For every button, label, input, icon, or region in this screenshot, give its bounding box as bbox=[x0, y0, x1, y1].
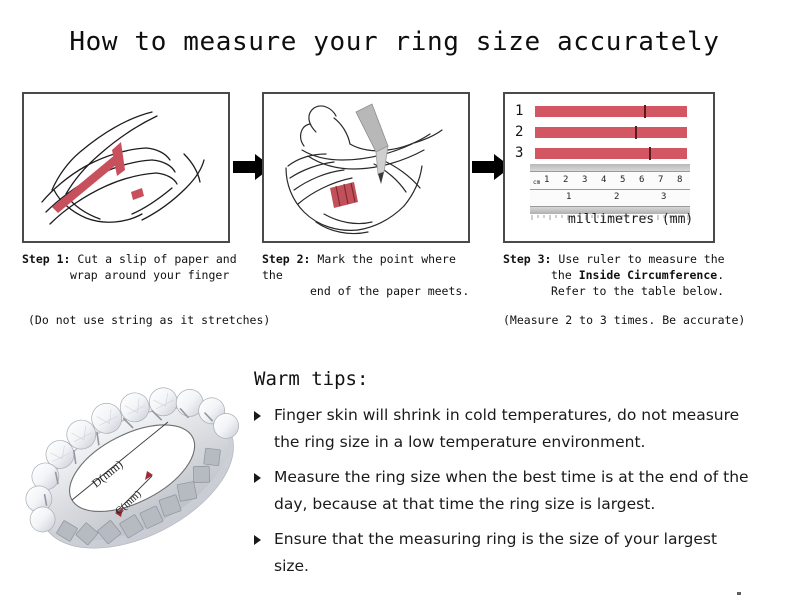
measured-strip-row: 2 bbox=[515, 124, 697, 140]
triangle-bullet-icon bbox=[254, 411, 261, 421]
strip-number: 2 bbox=[515, 124, 535, 140]
step-2-label: Step 2: bbox=[262, 252, 310, 266]
ring-diagram: D(mm) C(mm) bbox=[18, 352, 248, 577]
step-1-line1: Cut a slip of paper and bbox=[77, 252, 236, 266]
step-3-line2-suffix: . bbox=[717, 268, 724, 282]
strip-number: 3 bbox=[515, 145, 535, 161]
ruler-top-edge bbox=[530, 164, 690, 171]
step-2-caption: Step 2: Mark the point where the end of … bbox=[262, 251, 477, 299]
warm-tips-heading: Warm tips: bbox=[254, 368, 368, 390]
strip-mark bbox=[635, 126, 637, 139]
list-item: Finger skin will shrink in cold temperat… bbox=[254, 402, 754, 456]
ring-size-guide-page: How to measure your ring size accurately bbox=[0, 0, 789, 606]
paper-strip bbox=[535, 106, 687, 117]
step-3-caption: Step 3: Use ruler to measure the the Ins… bbox=[503, 251, 753, 299]
step-3-label: Step 3: bbox=[503, 252, 551, 266]
pencil-shape bbox=[356, 104, 388, 184]
step-3-illustration-panel: 1 2 3 bbox=[503, 92, 715, 243]
ruler-inch-tick: 2 bbox=[614, 192, 619, 202]
step-3-line3: Refer to the table below. bbox=[503, 283, 753, 299]
paper-strip bbox=[535, 148, 687, 159]
ruler-cm-tick: 2 bbox=[563, 175, 568, 185]
step-1-illustration-panel bbox=[22, 92, 230, 243]
step-2-illustration-panel bbox=[262, 92, 470, 243]
ruler-cm-tick: 3 bbox=[582, 175, 587, 185]
ruler: cm 1 2 3 4 5 6 7 8 1 2 3 bbox=[530, 164, 690, 214]
hands-marking-paper-icon bbox=[264, 94, 470, 243]
ruler-cm-tick: 8 bbox=[677, 175, 682, 185]
ruler-inch-tick: 1 bbox=[566, 192, 571, 202]
step-3-note: (Measure 2 to 3 times. Be accurate) bbox=[503, 313, 745, 327]
triangle-bullet-icon bbox=[254, 473, 261, 483]
step-1-line2: wrap around your finger bbox=[22, 267, 237, 283]
strip-number: 1 bbox=[515, 103, 535, 119]
step-3-line1: Use ruler to measure the bbox=[558, 252, 724, 266]
step-1-note: (Do not use string as it stretches) bbox=[28, 313, 270, 327]
ruler-cm-tick: 4 bbox=[601, 175, 606, 185]
paper-strip bbox=[535, 127, 687, 138]
ruler-cm-tick: 5 bbox=[620, 175, 625, 185]
strip-mark bbox=[649, 147, 651, 160]
tip-text: Measure the ring size when the best time… bbox=[274, 468, 749, 513]
inside-circumference-emphasis: Inside Circumference bbox=[579, 268, 717, 282]
list-item: Measure the ring size when the best time… bbox=[254, 464, 754, 518]
tip-text: Ensure that the measuring ring is the si… bbox=[274, 530, 717, 575]
measured-strip-row: 1 bbox=[515, 103, 697, 119]
ruler-cm-tick: 7 bbox=[658, 175, 663, 185]
ruler-inch-scale: 1 2 3 bbox=[530, 190, 690, 207]
list-item: Ensure that the measuring ring is the si… bbox=[254, 526, 754, 580]
measured-strip-row: 3 bbox=[515, 145, 697, 161]
triangle-bullet-icon bbox=[254, 535, 261, 545]
image-artifact-speck bbox=[737, 592, 741, 595]
ruler-cm-unit: cm bbox=[533, 179, 540, 186]
step-3-line2: the Inside Circumference. bbox=[503, 267, 753, 283]
step-1-caption: Step 1: Cut a slip of paper and wrap aro… bbox=[22, 251, 237, 283]
strip-mark bbox=[644, 105, 646, 118]
step-3-line2-prefix: the bbox=[551, 268, 579, 282]
ruler-cm-tick: 6 bbox=[639, 175, 644, 185]
tip-text: Finger skin will shrink in cold temperat… bbox=[274, 406, 739, 451]
ruler-cm-tick: 1 bbox=[544, 175, 549, 185]
hand-with-paper-strip-icon bbox=[24, 94, 230, 243]
warm-tips-list: Finger skin will shrink in cold temperat… bbox=[254, 402, 754, 588]
page-title: How to measure your ring size accurately bbox=[0, 27, 789, 57]
ruler-cm-scale: cm 1 2 3 4 5 6 7 8 bbox=[530, 171, 690, 190]
step-2-line2: end of the paper meets. bbox=[262, 283, 477, 299]
paper-ring-on-finger-shape bbox=[330, 182, 358, 208]
ruler-inch-tick: 3 bbox=[661, 192, 666, 202]
step-1-label: Step 1: bbox=[22, 252, 70, 266]
ruler-unit-caption: millimetres (mm) bbox=[568, 212, 693, 227]
